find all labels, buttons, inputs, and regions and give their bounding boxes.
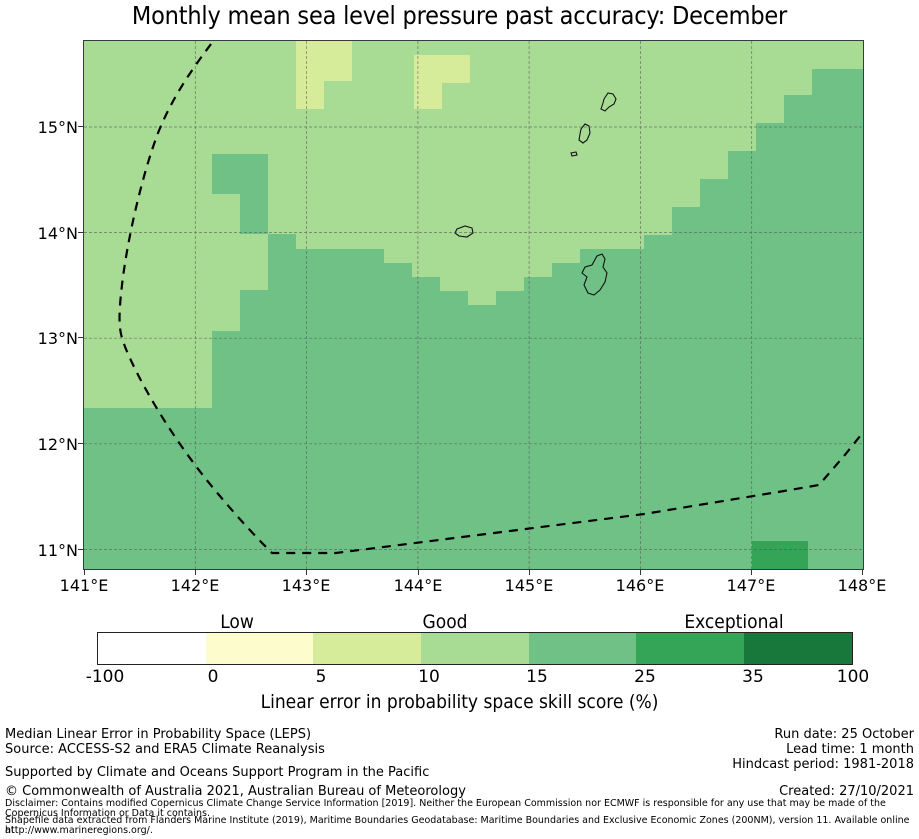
footer-run-date: Run date: 25 October [732, 727, 914, 742]
y-axis-tick-12N: 12°N [0, 435, 78, 454]
colorbar-category-low: Low [137, 611, 337, 633]
footer-support-note: Supported by Climate and Oceans Support … [5, 765, 429, 780]
footer-disclaimer-line-4: http://www.marineregions.org/. [5, 826, 910, 836]
colorbar-bin-5-10[interactable] [313, 633, 421, 664]
footer-created-date: Created: 27/10/2021 [779, 784, 914, 799]
y-axis-tick-15N: 15°N [0, 118, 78, 137]
y-axis-tick-14N: 14°N [0, 224, 78, 243]
colorbar-tick-100: 100 [808, 667, 898, 687]
y-axis-tick-13N: 13°N [0, 329, 78, 348]
x-axis-tick-144E: 144°E [378, 576, 458, 595]
colorbar-tick-35: 35 [708, 667, 798, 687]
colorbar-bin-35-100[interactable] [744, 633, 852, 664]
colorbar-bin-15-25[interactable] [529, 633, 637, 664]
colorbar-axis-label: Linear error in probability space skill … [0, 691, 919, 713]
colorbar[interactable] [97, 632, 853, 665]
footer-hindcast-period: Hindcast period: 1981-2018 [732, 757, 914, 772]
colorbar-bin-25-35[interactable] [636, 633, 744, 664]
footer-lead-time: Lead time: 1 month [732, 742, 914, 757]
x-axis-tick-143E: 143°E [266, 576, 346, 595]
x-axis-tick-148E: 148°E [822, 576, 902, 595]
colorbar-category-good: Good [345, 611, 545, 633]
colorbar-bin-0-5[interactable] [206, 633, 314, 664]
x-axis-tick-142E: 142°E [155, 576, 235, 595]
y-axis-tick-11N: 11°N [0, 541, 78, 560]
colorbar-tick-15: 15 [492, 667, 582, 687]
x-axis-tick-147E: 147°E [711, 576, 791, 595]
colorbar-bin-10-15[interactable] [421, 633, 529, 664]
footer-source: Source: ACCESS-S2 and ERA5 Climate Reana… [5, 742, 325, 757]
footer-copyright: © Commonwealth of Australia 2021, Austra… [5, 784, 466, 799]
x-axis-tick-145E: 145°E [489, 576, 569, 595]
footer-right-block: Run date: 25 October Lead time: 1 month … [732, 727, 914, 772]
map-plot-area[interactable] [83, 40, 864, 570]
colorbar-tick-0: 0 [168, 667, 258, 687]
colorbar-category-exceptional: Exceptional [634, 611, 834, 633]
x-axis-tick-141E: 141°E [44, 576, 124, 595]
colorbar-tick-neg100: -100 [60, 667, 150, 687]
x-axis-tick-146E: 146°E [600, 576, 680, 595]
map-raster-svg [84, 41, 863, 569]
page-title: Monthly mean sea level pressure past acc… [0, 1, 919, 31]
colorbar-tick-10: 10 [384, 667, 474, 687]
colorbar-tick-5: 5 [276, 667, 366, 687]
colorbar-bin-neg100-0[interactable] [98, 633, 206, 664]
footer-metric-name: Median Linear Error in Probability Space… [5, 727, 325, 742]
footer-left-block: Median Linear Error in Probability Space… [5, 727, 325, 757]
colorbar-tick-25: 25 [600, 667, 690, 687]
